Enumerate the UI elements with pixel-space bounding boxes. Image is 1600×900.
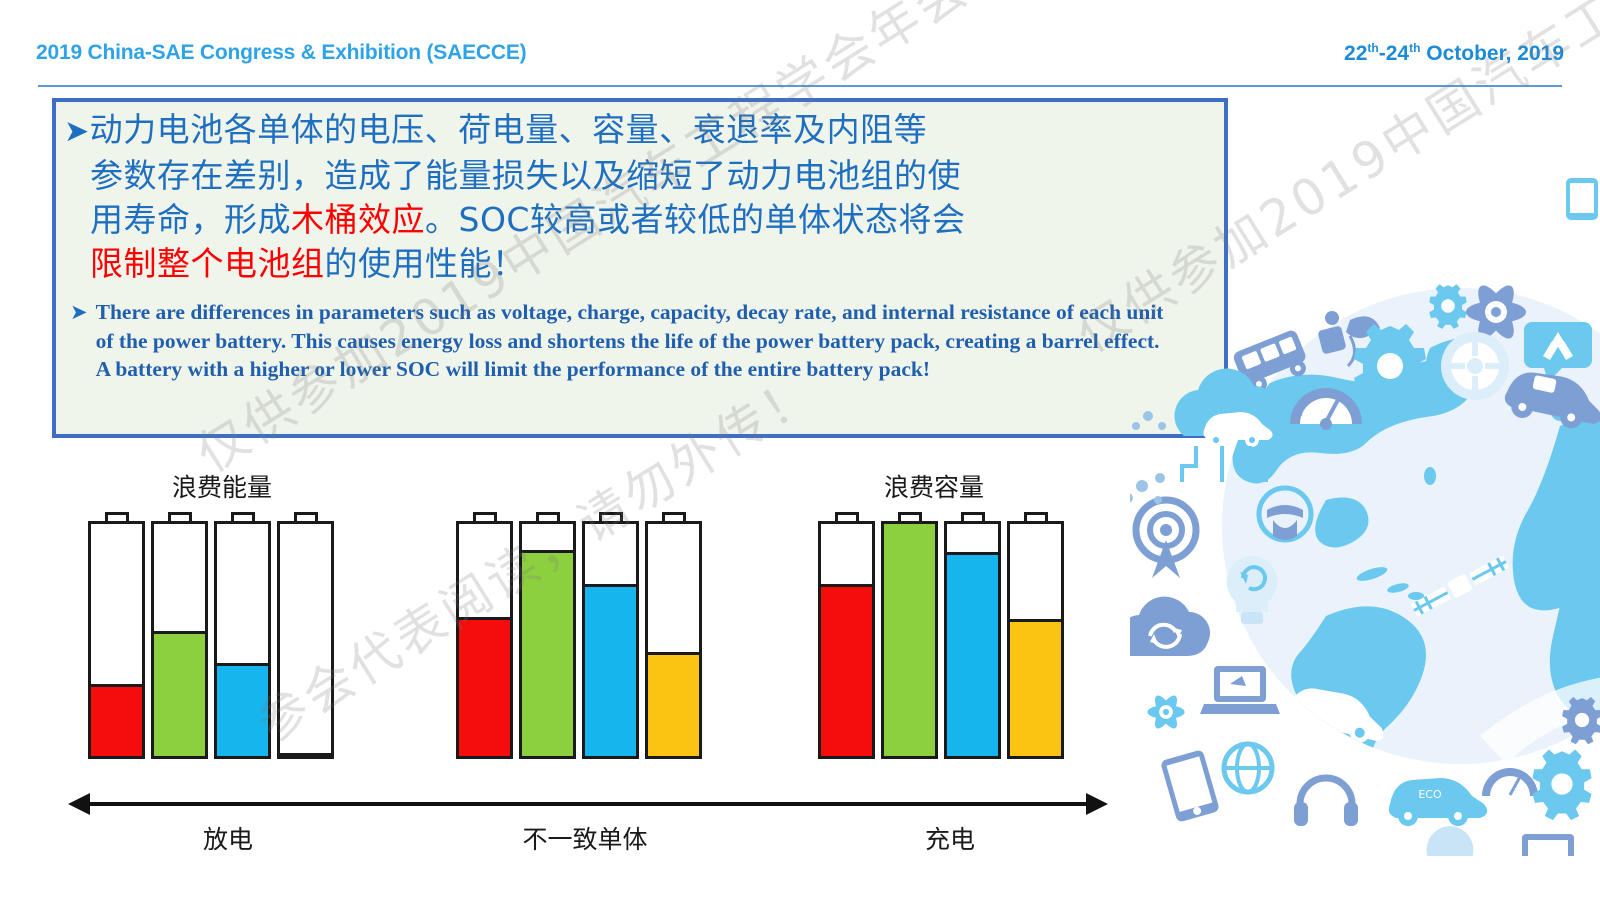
battery-fill-level — [91, 684, 142, 756]
battery-fill-level — [217, 663, 268, 756]
gear-icon — [1562, 697, 1600, 744]
header-title: 2019 China-SAE Congress & Exhibition (SA… — [36, 41, 526, 65]
chinese-statement: ➤动力电池各单体的电压、荷电量、容量、衰退率及内阻等 参数存在差别，造成了能量损… — [64, 108, 1214, 286]
battery-body — [214, 521, 271, 759]
chinese-line-2-text: 参数存在差别，造成了能量损失以及缩短了动力电池组的使 — [90, 156, 961, 195]
battery-body — [645, 521, 702, 759]
speedometer-icon — [1290, 388, 1362, 430]
lightbulb-icon — [1427, 826, 1474, 856]
chinese-line-3-part-b: 。SOC较高或者较低的单体状态将会 — [425, 200, 965, 239]
battery-fill-level — [280, 753, 331, 756]
car-icon — [1501, 366, 1600, 434]
battery-fill-level — [648, 652, 699, 756]
axis-label-charge: 充电 — [870, 820, 1030, 856]
axis-double-arrow-icon — [88, 802, 1088, 806]
english-row: ➤ There are differences in parameters su… — [70, 298, 1210, 384]
laptop-icon — [1522, 834, 1574, 856]
bus-icon — [1232, 329, 1312, 397]
chinese-line-2: 参数存在差别，造成了能量损失以及缩短了动力电池组的使 — [64, 154, 1214, 198]
axis-label-inconsistent: 不一致单体 — [470, 820, 700, 856]
english-paragraph: There are differences in parameters such… — [96, 298, 1178, 384]
eco-car-icon — [1283, 681, 1391, 748]
battery-body — [944, 521, 1001, 759]
gear-icon — [1532, 750, 1591, 821]
english-statement: ➤ There are differences in parameters su… — [70, 298, 1210, 384]
satellite-icon — [1410, 554, 1510, 619]
battery-body — [818, 521, 875, 759]
battery-fill-level — [154, 631, 205, 756]
date-sup-first: th — [1367, 41, 1378, 55]
date-day-start: 22 — [1344, 42, 1367, 65]
headphones-icon — [1294, 778, 1358, 826]
globe-icon — [1224, 744, 1272, 792]
gear-icon — [1429, 284, 1466, 329]
bullet-arrow-icon: ➤ — [70, 298, 96, 326]
battery-fill-level — [1010, 619, 1061, 756]
battery-body — [456, 521, 513, 759]
axis-label-discharge: 放电 — [148, 820, 308, 856]
chart-annotation-wasted-capacity: 浪费容量 — [884, 468, 984, 504]
steering-wheel-icon — [1259, 488, 1311, 540]
callout-box: ➤动力电池各单体的电压、荷电量、容量、衰退率及内阻等 参数存在差别，造成了能量损… — [52, 98, 1228, 438]
atom-icon — [1466, 281, 1526, 344]
page-header: 2019 China-SAE Congress & Exhibition (SA… — [0, 0, 1600, 88]
tablet-icon — [1566, 178, 1598, 220]
speedometer-icon — [1482, 768, 1538, 796]
chinese-line-3-part-a: 用寿命，形成 — [90, 200, 291, 239]
laptop-icon — [1200, 666, 1280, 714]
battery-fill-level — [585, 584, 636, 756]
chinese-highlight-limit-pack: 限制整个电池组 — [90, 244, 325, 283]
battery-fill-level — [884, 524, 935, 756]
header-date: 22th-24th October, 2019 — [1344, 41, 1564, 66]
battery-body — [582, 521, 639, 759]
header-divider — [38, 85, 1562, 87]
battery-body — [151, 521, 208, 759]
battery-body — [519, 521, 576, 759]
chinese-line-4-part-b: 的使用性能！ — [325, 244, 526, 283]
plant-icon — [1317, 311, 1380, 366]
svg-text:ECO: ECO — [1418, 788, 1442, 801]
chart-annotation-wasted-energy: 浪费能量 — [172, 468, 272, 504]
chinese-line-4: 限制整个电池组的使用性能！ — [64, 242, 1214, 286]
battery-body — [1007, 521, 1064, 759]
battery-chart: 浪费能量 浪费容量 — [0, 450, 1180, 850]
wheel-icon — [1441, 332, 1509, 400]
battery-body — [88, 521, 145, 759]
date-month-year: October, 2019 — [1420, 42, 1564, 65]
battery-fill-level — [947, 552, 998, 756]
battery-body — [277, 521, 334, 759]
battery-fill-level — [459, 617, 510, 756]
battery-fill-level — [821, 584, 872, 756]
battery-body — [881, 521, 938, 759]
date-day-end: -24 — [1379, 42, 1409, 65]
lightbulb-icon — [1227, 556, 1278, 624]
date-sup-second: th — [1409, 41, 1420, 55]
chinese-highlight-barrel-effect: 木桶效应 — [291, 200, 425, 239]
chinese-line-3: 用寿命，形成木桶效应。SOC较高或者较低的单体状态将会 — [64, 198, 1214, 242]
chinese-line-1-text: 动力电池各单体的电压、荷电量、容量、衰退率及内阻等 — [90, 110, 928, 149]
recycle-icon — [1524, 322, 1592, 382]
bullet-arrow-icon: ➤ — [64, 114, 90, 149]
gear-icon — [1354, 324, 1426, 410]
globe-icon — [1222, 288, 1600, 764]
eco-car-icon: ECO — [1389, 778, 1487, 826]
chinese-line-1: ➤动力电池各单体的电压、荷电量、容量、衰退率及内阻等 — [64, 108, 1214, 154]
battery-fill-level — [522, 550, 573, 756]
